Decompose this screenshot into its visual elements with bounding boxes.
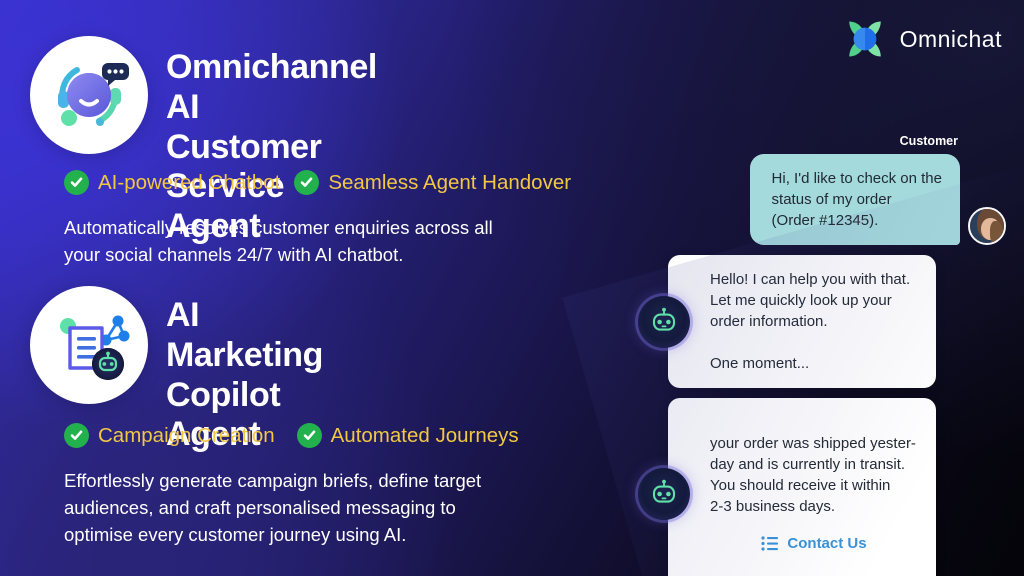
section-b-body: Effortlessly generate campaign briefs, d… xyxy=(64,468,630,548)
chatbot-support-avatar-icon xyxy=(30,36,148,154)
feature-automated-journeys[interactable]: Automated Journeys xyxy=(297,423,519,448)
chat-bubble-with-action: your order was shipped yester- day and i… xyxy=(668,398,936,576)
chat-bubble-text: Hello! I can help you with that. Let me … xyxy=(668,255,936,388)
marketing-document-robot-icon xyxy=(30,286,148,404)
feature-label: Campaign Creation xyxy=(98,424,275,448)
chat-bubble-text: your order was shipped yester- day and i… xyxy=(710,435,916,515)
contact-us-label: Contact Us xyxy=(787,533,866,554)
feature-campaign-creation[interactable]: Campaign Creation xyxy=(64,423,275,448)
chat-bubble-text: Hi, I'd like to check on the status of m… xyxy=(750,154,960,245)
chat-sender-label: Customer xyxy=(638,134,1006,148)
chat-message-bot-2: your order was shipped yester- day and i… xyxy=(638,398,1006,576)
brand-name: Omnichat xyxy=(900,26,1002,53)
feature-label: AI-powered Chatbot xyxy=(98,171,280,195)
section-a-body: Automatically resolves customer enquirie… xyxy=(64,215,630,269)
robot-bot-avatar-icon xyxy=(638,296,690,348)
left-content-column: Omnichannel AI Customer Service Agent AI… xyxy=(0,0,660,576)
customer-photo-avatar xyxy=(968,207,1006,245)
feature-seamless-agent-handover[interactable]: Seamless Agent Handover xyxy=(294,170,571,195)
check-circle-icon xyxy=(297,423,322,448)
list-icon xyxy=(761,536,778,551)
brand-logo[interactable]: Omnichat xyxy=(844,18,1002,60)
check-circle-icon xyxy=(64,170,89,195)
chat-conversation-panel: Customer Hi, I'd like to check on the st… xyxy=(638,134,1006,576)
section-b-body-wrap: Effortlessly generate campaign briefs, d… xyxy=(30,459,630,548)
section-b-features: Campaign Creation Automated Journeys xyxy=(30,423,650,448)
feature-label: Seamless Agent Handover xyxy=(328,171,571,195)
chat-message-customer: Hi, I'd like to check on the status of m… xyxy=(638,154,1006,245)
omnichat-petal-logo-icon xyxy=(844,18,886,60)
robot-bot-avatar-icon xyxy=(638,468,690,520)
contact-us-link[interactable]: Contact Us xyxy=(710,533,918,554)
check-circle-icon xyxy=(294,170,319,195)
section-a-features: AI-powered Chatbot Seamless Agent Handov… xyxy=(30,170,650,195)
section-a-body-wrap: Automatically resolves customer enquirie… xyxy=(30,206,630,269)
feature-ai-powered-chatbot[interactable]: AI-powered Chatbot xyxy=(64,170,280,195)
feature-label: Automated Journeys xyxy=(331,424,519,448)
chat-message-bot-1: Hello! I can help you with that. Let me … xyxy=(638,255,1006,388)
check-circle-icon xyxy=(64,423,89,448)
slide-root: Omnichat xyxy=(0,0,1024,576)
